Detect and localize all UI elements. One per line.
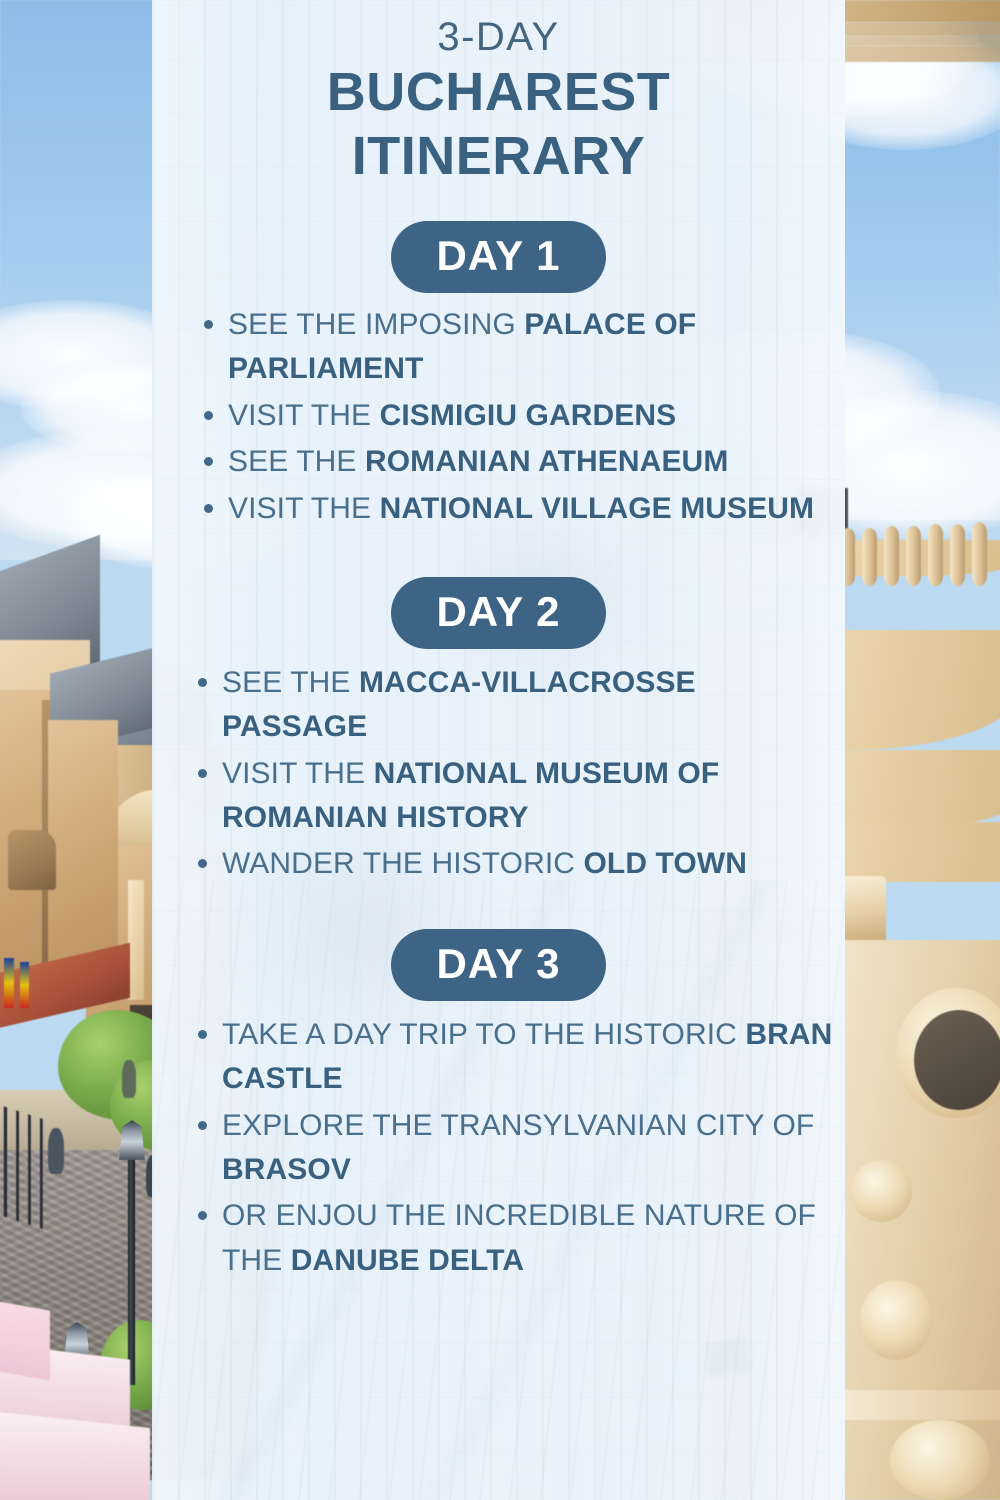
- day-1-activity-list: SEE THE IMPOSING PALACE OF PARLIAMENTVIS…: [152, 303, 845, 531]
- baluster: [928, 524, 943, 586]
- day-badge-1: DAY 1: [391, 221, 606, 293]
- itinerary-content: 3-DAY BUCHAREST ITINERARY DAY 1 SEE THE …: [152, 0, 845, 1285]
- flag-romania: [4, 958, 14, 1008]
- activity-item: WANDER THE HISTORIC OLD TOWN: [192, 842, 841, 886]
- activity-text: VISIT THE: [228, 399, 380, 432]
- activity-item: VISIT THE CISMIGIU GARDENS: [198, 394, 835, 438]
- activity-text: VISIT THE: [222, 757, 374, 790]
- baluster: [884, 526, 899, 586]
- day-badge-3: DAY 3: [391, 929, 606, 1001]
- day-2-activity-list: SEE THE MACCA-VILLACROSSE PASSAGEVISIT T…: [152, 661, 845, 887]
- activity-text: EXPLORE THE TRANSYLVANIAN CITY OF: [222, 1109, 814, 1142]
- pedestrian: [48, 1128, 64, 1174]
- sculpted-relief: [890, 1420, 990, 1500]
- activity-text: SEE THE: [228, 445, 365, 478]
- activity-highlight: NATIONAL VILLAGE MUSEUM: [380, 492, 815, 525]
- activity-highlight: OLD TOWN: [583, 847, 747, 880]
- baluster: [906, 526, 921, 586]
- baluster: [972, 522, 987, 586]
- activity-item: EXPLORE THE TRANSYLVANIAN CITY OF BRASOV: [192, 1104, 841, 1193]
- oval-window-dark: [914, 1010, 1000, 1110]
- activity-text: WANDER THE HISTORIC: [222, 847, 583, 880]
- activity-item: SEE THE ROMANIAN ATHENAEUM: [198, 440, 835, 484]
- lamp-post: [128, 1155, 135, 1385]
- pedestrian: [122, 1060, 136, 1098]
- activity-highlight: BRASOV: [222, 1153, 351, 1186]
- activity-item: TAKE A DAY TRIP TO THE HISTORIC BRAN CAS…: [192, 1013, 841, 1102]
- baluster: [950, 524, 965, 586]
- pilaster: [128, 880, 144, 1000]
- activity-highlight: CISMIGIU GARDENS: [380, 399, 677, 432]
- eyebrow-text: 3-DAY: [152, 16, 845, 58]
- activity-text: SEE THE IMPOSING: [228, 308, 524, 341]
- balcony-ornament: [8, 830, 56, 890]
- activity-item: SEE THE MACCA-VILLACROSSE PASSAGE: [192, 661, 841, 750]
- activity-highlight: ROMANIAN ATHENAEUM: [365, 445, 728, 478]
- activity-item: SEE THE IMPOSING PALACE OF PARLIAMENT: [198, 303, 835, 392]
- baluster: [862, 528, 877, 586]
- page-title-line1: BUCHAREST: [152, 62, 845, 122]
- iron-railing: [0, 1099, 50, 1232]
- activity-highlight: DANUBE DELTA: [291, 1244, 524, 1277]
- activity-text: VISIT THE: [228, 492, 380, 525]
- activity-item: OR ENJOU THE INCREDIBLE NATURE OF THE DA…: [192, 1194, 841, 1283]
- moulding-band: [830, 1390, 1000, 1420]
- flag-romania: [20, 962, 29, 1008]
- activity-text: SEE THE: [222, 666, 359, 699]
- scroll-ornament: [850, 1160, 912, 1222]
- itinerary-poster: 3-DAY BUCHAREST ITINERARY DAY 1 SEE THE …: [0, 0, 1000, 1500]
- activity-text: TAKE A DAY TRIP TO THE HISTORIC: [222, 1018, 745, 1051]
- sculpted-figure: [860, 1280, 932, 1360]
- page-title-line2: ITINERARY: [152, 126, 845, 186]
- activity-item: VISIT THE NATIONAL MUSEUM OF ROMANIAN HI…: [192, 752, 841, 841]
- day-3-activity-list: TAKE A DAY TRIP TO THE HISTORIC BRAN CAS…: [152, 1013, 845, 1283]
- day-badge-2: DAY 2: [391, 577, 606, 649]
- activity-item: VISIT THE NATIONAL VILLAGE MUSEUM: [198, 487, 835, 531]
